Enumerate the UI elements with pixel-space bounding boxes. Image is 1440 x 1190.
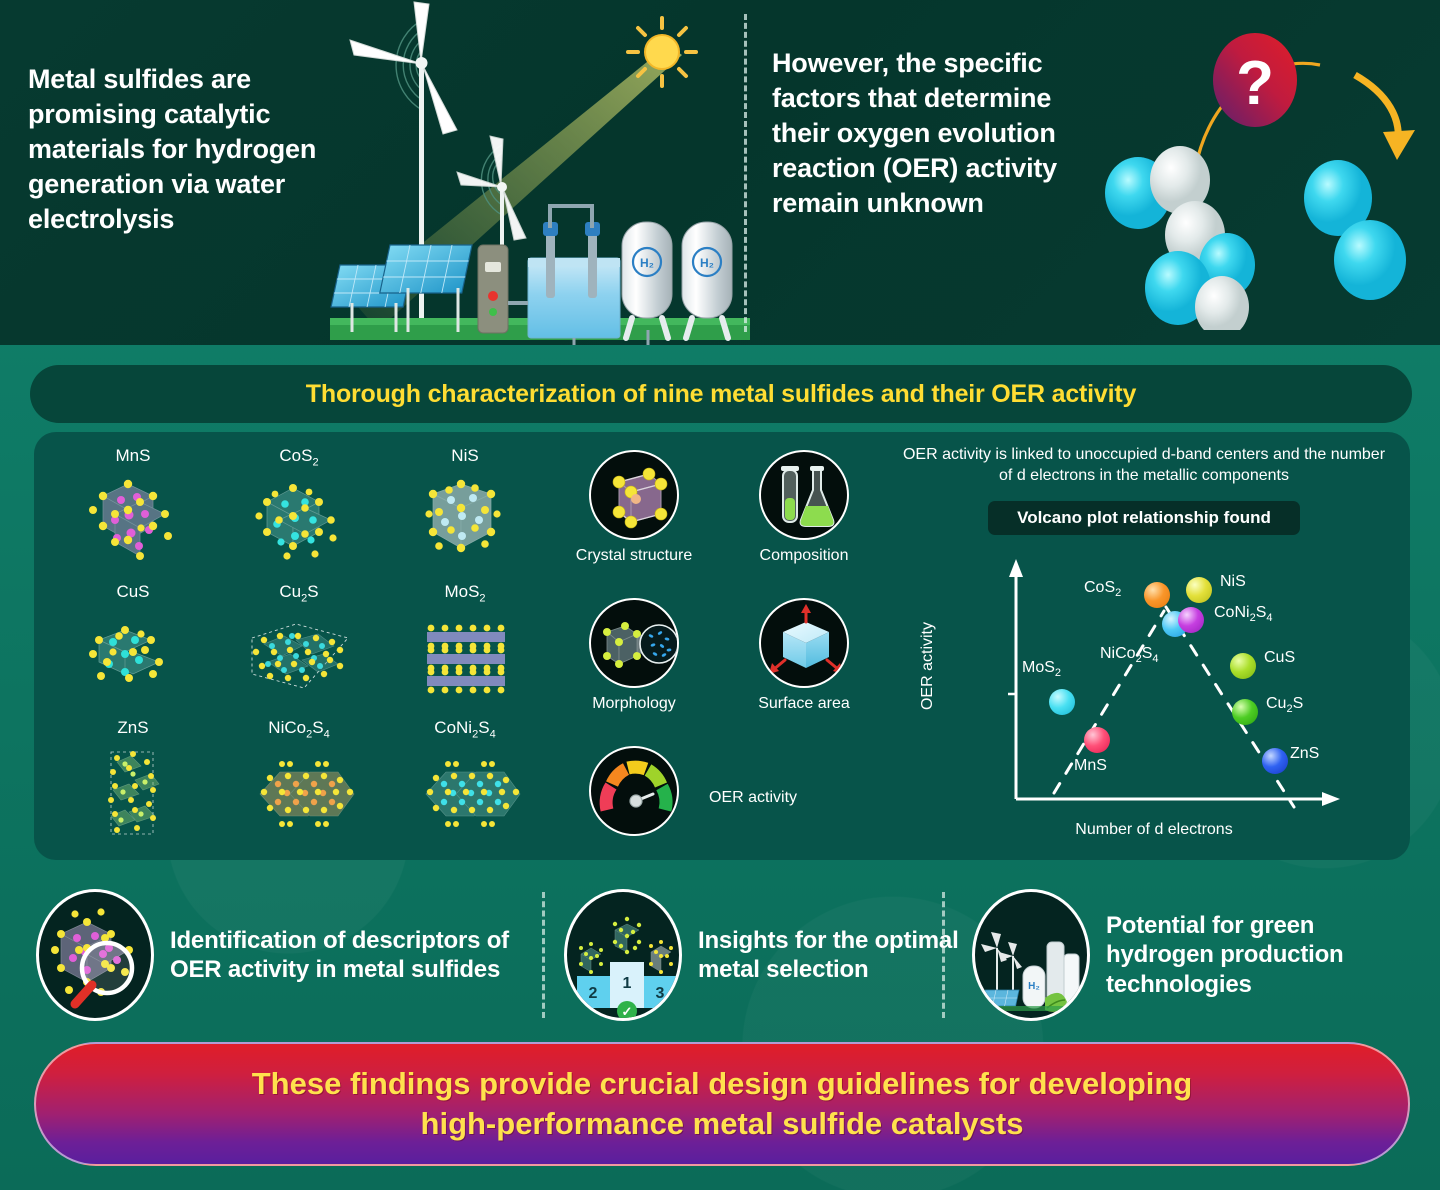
material-label-zns: ZnS: [50, 718, 216, 738]
cube-arrows-icon: [759, 598, 849, 688]
conclusion-line-2: high-performance metal sulfide catalysts: [421, 1106, 1024, 1141]
podium-crystal-3: [649, 940, 673, 974]
data-point-cu2s: [1232, 699, 1258, 725]
material-label-cos2: CoS2: [216, 446, 382, 468]
data-label-mns: MnS: [1074, 757, 1107, 775]
data-point-zns: [1262, 748, 1288, 774]
y-axis-label: OER activity: [919, 596, 937, 736]
volcano-badge-text: Volcano plot relationship found: [1017, 508, 1271, 528]
material-card: CoNi2S4: [382, 718, 548, 836]
data-point-nis: [1186, 577, 1212, 603]
gauge-icon: [589, 746, 679, 836]
outcome-card-green-hydrogen: H₂ Potential for green hydrogen producti…: [972, 880, 1410, 1030]
data-label-cus: CuS: [1264, 649, 1295, 667]
volcano-badge: Volcano plot relationship found: [988, 501, 1300, 535]
question-mark-label: ?: [1236, 49, 1274, 118]
material-label-nico2s4: NiCo2S4: [216, 718, 382, 740]
characterization-item-morphology: Morphology: [559, 598, 709, 713]
outcome-cards: Identification of descriptors of OER act…: [34, 880, 1410, 1030]
material-card: NiCo2S4: [216, 718, 382, 836]
crystal-structure-nico2s4: [216, 744, 382, 836]
material-label-cus: CuS: [50, 582, 216, 602]
crystal-structure-cus: [50, 606, 216, 698]
outcome-text-insights: Insights for the optimal metal selection: [698, 926, 974, 985]
material-card: Cu2S: [216, 582, 382, 700]
green-plant-icon: H₂: [972, 889, 1090, 1021]
magnifier-crystal-icon: [36, 889, 154, 1021]
x-axis-label: Number of d electrons: [1004, 821, 1304, 839]
magnifier-handle: [75, 985, 92, 1004]
conclusion-line-1: These findings provide crucial design gu…: [252, 1066, 1193, 1101]
section-banner: Thorough characterization of nine metal …: [30, 365, 1412, 423]
podium-crystal-2: [579, 942, 603, 974]
y-axis-arrow: [1009, 559, 1023, 577]
crystal-structure-zns: [50, 742, 216, 834]
material-card: CoS2: [216, 446, 382, 564]
outcome-card-descriptors: Identification of descriptors of OER act…: [36, 880, 546, 1030]
material-card: NiS: [382, 446, 548, 562]
plant-solar: [982, 990, 1019, 1006]
sphere-cyan: [1334, 220, 1406, 300]
controller-box: [478, 245, 508, 333]
outcome-text-green-hydrogen: Potential for green hydrogen production …: [1106, 911, 1410, 999]
x-axis-arrow: [1322, 792, 1340, 806]
crystal-structure-cos2: [216, 472, 382, 564]
characterization-label: Composition: [729, 547, 879, 565]
magnify-particles-icon: [589, 598, 679, 688]
podium-rank-2: 2: [589, 985, 598, 1002]
characterization-label: Surface area: [729, 695, 879, 713]
volcano-plot: OER activity Number of d electrons MoS2 …: [894, 549, 1394, 849]
data-point-coni2s4: [1178, 607, 1204, 633]
data-point-cus: [1230, 653, 1256, 679]
characterization-label: OER activity: [709, 789, 889, 807]
flask-icon: [759, 450, 849, 540]
crystal-structure-mns: [50, 470, 216, 562]
crystal-cell-icon: [589, 450, 679, 540]
hero-left-statement: Metal sulfides are promising catalytic m…: [28, 62, 358, 237]
material-label-mns: MnS: [50, 446, 216, 466]
characterization-icon-column: Crystal structure Composition: [559, 450, 889, 850]
data-point-mos2: [1049, 689, 1075, 715]
characterization-item-composition: Composition: [729, 450, 879, 565]
data-point-cos2: [1144, 582, 1170, 608]
data-label-coni2s4: CoNi2S4: [1214, 604, 1272, 624]
hero-divider: [744, 14, 747, 332]
podium-icon: 2 1 3 ✓: [564, 889, 682, 1021]
data-label-nis: NiS: [1220, 573, 1246, 591]
podium-rank-1: 1: [623, 975, 632, 992]
material-card: CuS: [50, 582, 216, 698]
podium-check-icon: ✓: [622, 1004, 633, 1019]
crystal-structure-coni2s4: [382, 744, 548, 836]
hero-panel: H₂ H₂ Metal sulfides are promising catal…: [0, 0, 1440, 345]
section-banner-text: Thorough characterization of nine metal …: [306, 380, 1136, 409]
data-label-mos2: MoS2: [1022, 659, 1061, 679]
card-divider-2: [942, 892, 945, 1018]
data-label-cos2: CoS2: [1084, 579, 1121, 599]
hero-right-statement: However, the specific factors that deter…: [772, 46, 1072, 221]
characterization-item-surface-area: Surface area: [729, 598, 879, 713]
plant-h2-label: H₂: [1028, 981, 1040, 992]
outcome-card-insights: 2 1 3 ✓ Insights for the optimal metal s…: [564, 880, 974, 1030]
characterization-label: Crystal structure: [559, 547, 709, 565]
crystal-structure-nis: [382, 470, 548, 562]
renewable-energy-illustration: H₂ H₂: [330, 0, 750, 345]
conclusion-banner: These findings provide crucial design gu…: [34, 1042, 1410, 1166]
material-label-nis: NiS: [382, 446, 548, 466]
data-label-zns: ZnS: [1290, 745, 1319, 763]
h2-tank-label-2: H₂: [700, 256, 714, 270]
volcano-plot-section: OER activity is linked to unoccupied d-b…: [894, 444, 1394, 854]
characterization-item-oer-activity: OER activity: [559, 746, 709, 836]
data-label-nico2s4: NiCo2S4: [1100, 645, 1158, 665]
material-card: MnS: [50, 446, 216, 562]
material-card: MoS2: [382, 582, 548, 700]
crystal-structure-cu2s: [216, 608, 382, 700]
podium-crystal-1: [613, 917, 641, 954]
h2-tank-label-1: H₂: [640, 256, 654, 270]
data-point-mns: [1084, 727, 1110, 753]
characterization-item-crystal-structure: Crystal structure: [559, 450, 709, 565]
sun-icon: [628, 18, 696, 86]
unknown-mechanism-illustration: ?: [1070, 20, 1440, 330]
metal-sulfide-grid: MnS: [50, 446, 550, 846]
card-divider-1: [542, 892, 545, 1018]
material-label-coni2s4: CoNi2S4: [382, 718, 548, 740]
material-label-cu2s: Cu2S: [216, 582, 382, 604]
main-content-panel: MnS: [34, 432, 1410, 860]
volcano-trend-line: [1054, 607, 1294, 807]
volcano-caption: OER activity is linked to unoccupied d-b…: [894, 444, 1394, 486]
characterization-label: Morphology: [559, 695, 709, 713]
outcome-text-descriptors: Identification of descriptors of OER act…: [170, 926, 546, 985]
podium-rank-3: 3: [656, 985, 665, 1002]
crystal-structure-mos2: [382, 608, 548, 700]
conclusion-text: These findings provide crucial design gu…: [252, 1064, 1193, 1143]
material-card: ZnS: [50, 718, 216, 834]
data-label-cu2s: Cu2S: [1266, 695, 1303, 715]
material-label-mos2: MoS2: [382, 582, 548, 604]
